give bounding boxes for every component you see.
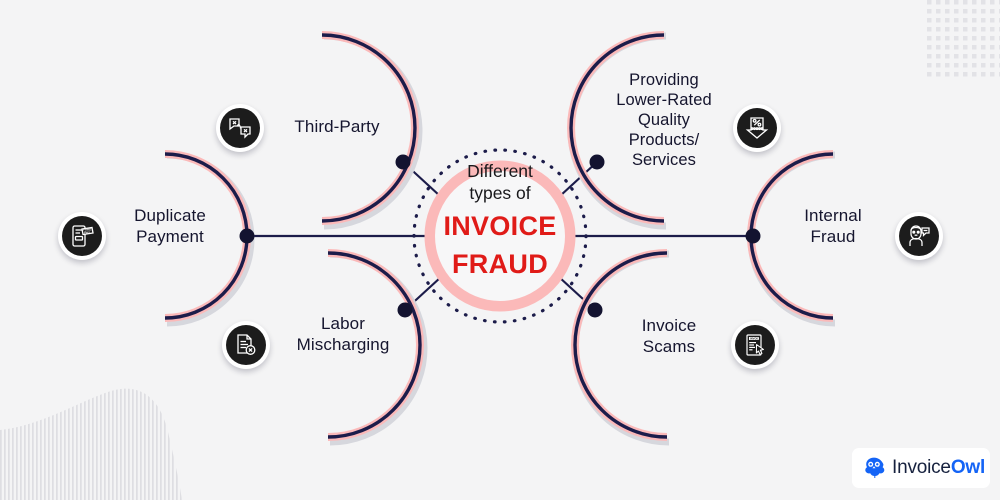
center-headline-1: INVOICE [443,211,556,241]
percent-arrow-glyph [744,115,770,141]
center-line-1: Different [467,161,533,181]
person-speech-glyph [906,223,932,249]
node-label-labor-mischarging: Labor Mischarging [268,313,418,355]
chat-bubbles-x-icon[interactable] [216,104,264,152]
invoiceowl-logo[interactable]: InvoiceOwl [852,448,990,488]
owl-icon [863,456,885,480]
logo-word-invoice: Invoice [892,457,951,478]
node-label-providing-lower-rated: Providing Lower-Rated Quality Products/ … [589,70,739,170]
center-title: Different types of INVOICE FRAUD [400,160,600,280]
node-label-invoice-scams: Invoice Scams [599,315,739,357]
center-line-2: types of [469,183,530,203]
invoice-cursor-glyph: INVOICE [742,332,768,358]
doc-x-glyph [233,332,259,358]
icon-disc [226,325,266,365]
logo-wordmark: InvoiceOwl [892,457,985,479]
overlay-layer: Different types of INVOICE FRAUD Duplica… [0,0,1000,500]
node-label-duplicate-payment: Duplicate Payment [105,205,235,247]
logo-word-owl: Owl [951,457,985,478]
svg-text:PAY: PAY [84,231,91,235]
person-speech-icon[interactable] [895,212,943,260]
svg-text:INVOICE: INVOICE [750,337,761,341]
icon-disc [220,108,260,148]
icon-disc [899,216,939,256]
fake-pay-invoice-icon[interactable]: FAKE PAY [58,212,106,260]
percent-down-arrow-icon[interactable] [733,104,781,152]
node-label-third-party: Third-Party [262,116,412,137]
chat-x-glyph [227,115,253,141]
document-x-icon[interactable] [222,321,270,369]
icon-disc: FAKE PAY [62,216,102,256]
icon-disc: INVOICE [735,325,775,365]
fake-pay-glyph: FAKE PAY [69,223,95,249]
icon-disc [737,108,777,148]
center-headline-2: FRAUD [452,249,548,279]
invoice-cursor-icon[interactable]: INVOICE [731,321,779,369]
node-label-internal-fraud: Internal Fraud [768,205,898,247]
